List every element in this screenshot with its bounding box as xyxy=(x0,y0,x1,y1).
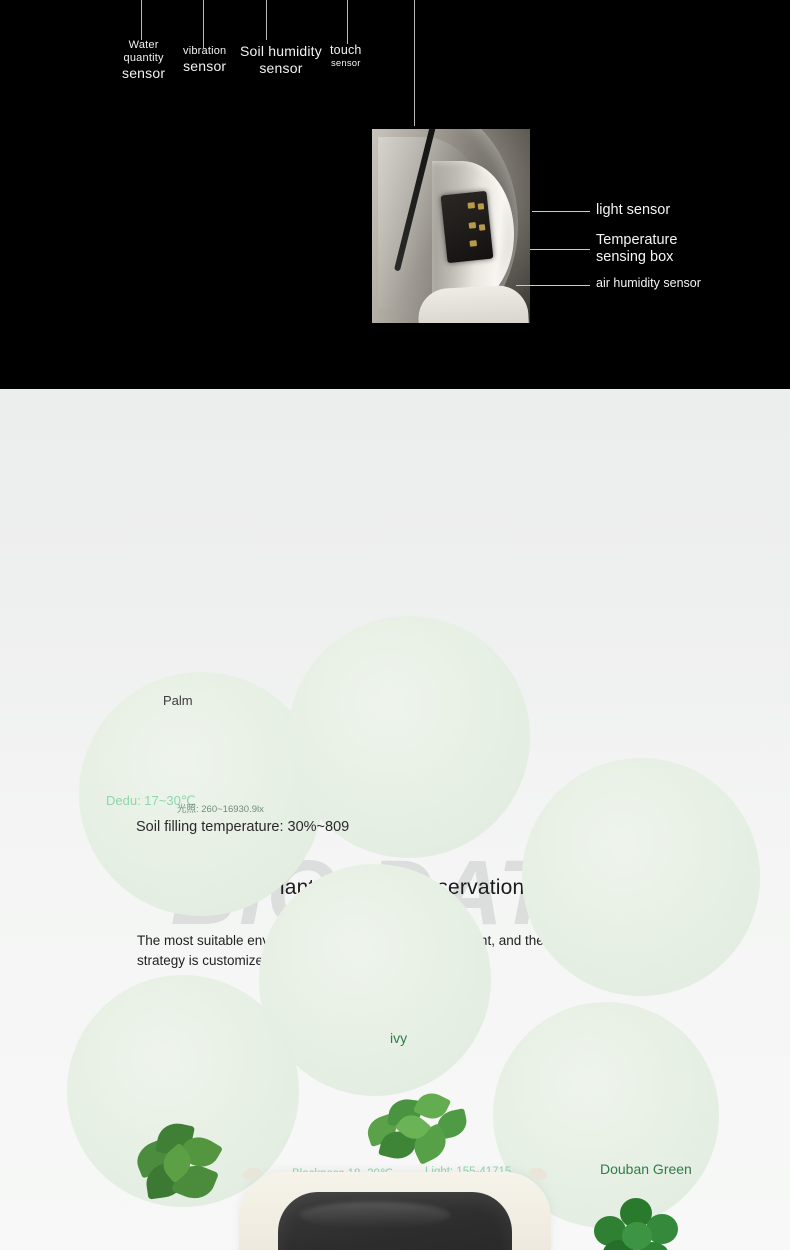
device-screen-glare xyxy=(300,1202,450,1228)
plant-image-douban-green xyxy=(590,1194,684,1250)
sensor-label-water-quantity: Water quantity sensor xyxy=(122,39,165,81)
sensor-label-line1: Water xyxy=(122,39,165,52)
leader-line-water-quantity xyxy=(141,0,142,40)
callout-label-line1: Temperature xyxy=(596,232,677,249)
photo-sensor-board xyxy=(441,191,494,263)
product-sensor-diagram-section: Water quantity sensor vibration sensor S… xyxy=(0,0,790,389)
plant-light-palm: 光照: 260~16930.9lx xyxy=(177,801,264,815)
plant-name-palm: Palm xyxy=(163,693,193,708)
plant-name-douban-green: Douban Green xyxy=(600,1161,692,1177)
sensor-label-touch: touch sensor xyxy=(330,43,362,69)
sensor-label-line2: sensor xyxy=(240,60,322,77)
callout-label: light sensor xyxy=(596,202,670,218)
plant-name-ivy: ivy xyxy=(390,1030,407,1046)
callout-line-temperature-box xyxy=(530,249,590,250)
photo-pad xyxy=(469,222,477,229)
plant-image-ivy xyxy=(365,1089,471,1167)
plant-bubble-douban-green xyxy=(522,758,760,996)
callout-line-light-sensor xyxy=(532,211,590,212)
device-screen xyxy=(278,1192,512,1250)
sensor-label-soil-humidity: Soil humidity sensor xyxy=(240,43,322,76)
page-root: Water quantity sensor vibration sensor S… xyxy=(0,0,790,1250)
photo-pad xyxy=(469,240,477,247)
leader-line-touch xyxy=(347,0,348,44)
product-closeup-photo xyxy=(372,129,530,323)
callout-line-air-humidity xyxy=(516,285,590,286)
plant-soil-palm: Soil filling temperature: 30%~809 xyxy=(136,819,349,835)
callout-label-line2: sensing box xyxy=(596,249,677,266)
sensor-label-line1: touch xyxy=(330,43,362,58)
callout-air-humidity-sensor: air humidity sensor xyxy=(596,276,701,291)
big-data-section: BIG DATE Plant big data conservation The… xyxy=(0,389,790,1250)
leader-line-soil-humidity xyxy=(266,0,267,40)
leader-line-vibration xyxy=(203,0,204,48)
leader-line-photo xyxy=(414,0,415,126)
sensor-label-line2: sensor xyxy=(330,58,362,69)
sensor-label-line1: Soil humidity xyxy=(240,43,322,60)
sensor-label-line2: quantity xyxy=(122,52,165,65)
callout-temperature-sensing-box: Temperature sensing box xyxy=(596,232,677,267)
sensor-label-vibration: vibration sensor xyxy=(183,45,226,74)
robot-device-preview xyxy=(239,1172,551,1250)
photo-pad xyxy=(467,202,475,209)
photo-pad xyxy=(479,224,486,231)
sensor-label-line1: vibration xyxy=(183,45,226,58)
callout-light-sensor: light sensor xyxy=(596,202,670,219)
sensor-label-line2: sensor xyxy=(183,58,226,75)
plant-image-palm xyxy=(128,1117,228,1207)
photo-pad xyxy=(478,203,485,210)
callout-label: air humidity sensor xyxy=(596,276,701,290)
sensor-label-line3: sensor xyxy=(122,65,165,82)
